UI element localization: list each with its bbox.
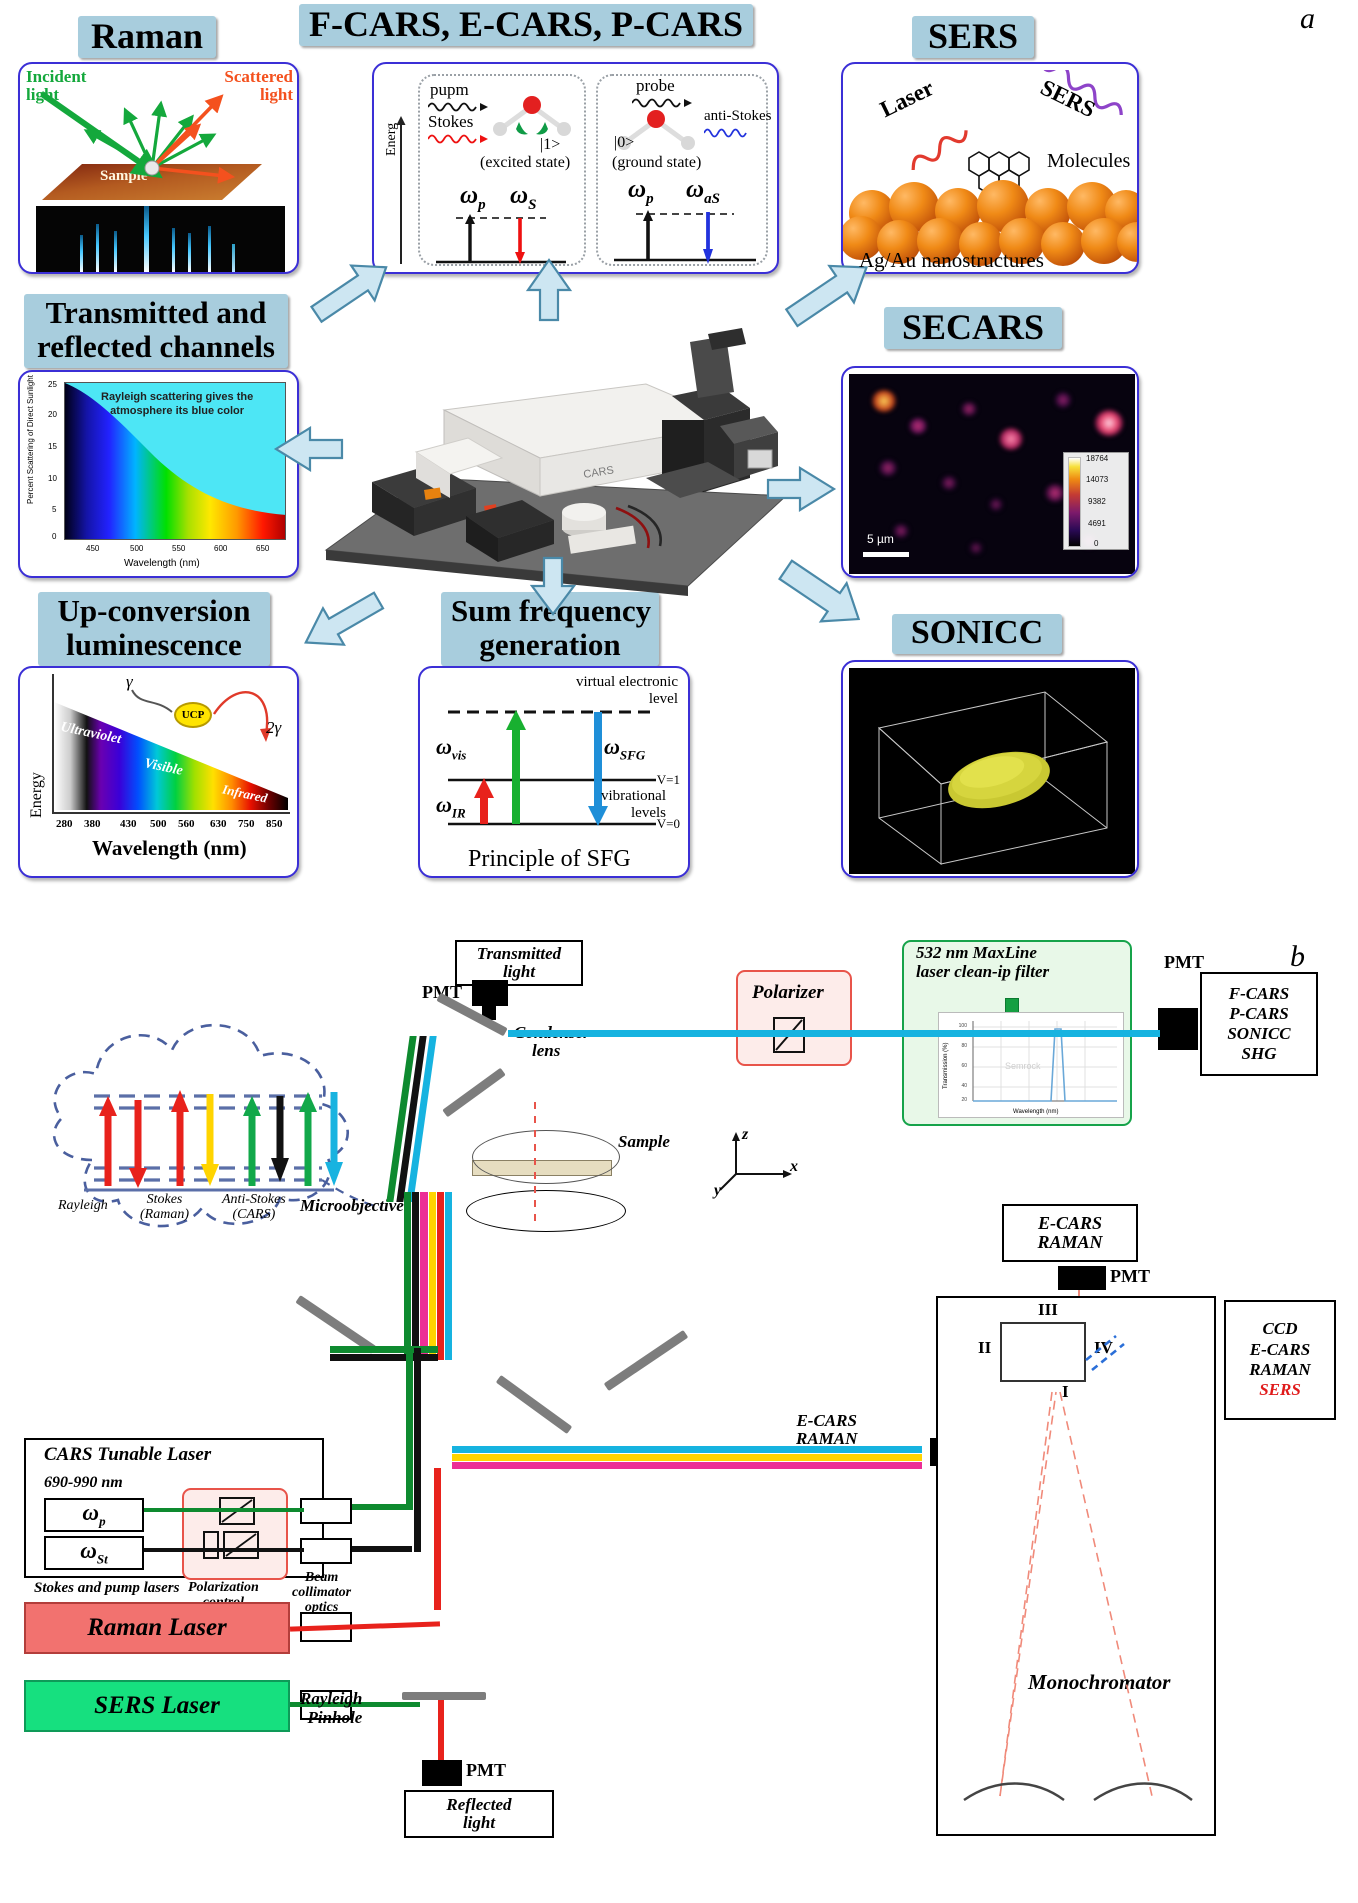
rayleigh-xtick-600: 600 (214, 544, 227, 553)
title-upconversion-line1: Up-conversion (48, 594, 260, 628)
microobjective-lens (466, 1190, 626, 1232)
secars-cbar-tick-2: 9382 (1088, 497, 1106, 506)
panel-b-label: b (1290, 940, 1305, 974)
detect-f-cars: F-CARS (1229, 984, 1289, 1004)
cloud-energy-diagram (22, 1000, 382, 1320)
sfg-vibrational-levels-label: vibrational levels (601, 788, 666, 821)
cars-laser-title: CARS Tunable Laser (44, 1444, 211, 1466)
ccd-line-raman: RAMAN (1249, 1360, 1310, 1380)
pmt-reflected-label: PMT (466, 1760, 506, 1781)
cars-stokes-label: Stokes (428, 112, 473, 132)
ecars-raman-detector-box: E-CARS RAMAN (1002, 1204, 1138, 1262)
mirror-condenser (442, 1068, 506, 1118)
stokes-wave-icon (428, 132, 488, 144)
stokes-pump-lasers-label: Stokes and pump lasers (34, 1580, 179, 1597)
arrow-to-transmitted (272, 420, 346, 478)
secars-cbar-tick-3: 14073 (1086, 475, 1108, 484)
cars-pump-label: pupm (430, 80, 469, 100)
title-sonicc: SONICC (892, 614, 1062, 654)
sers-laser-box: SERS Laser (24, 1680, 290, 1732)
title-transmitted-line1: Transmitted and (34, 296, 278, 330)
pmt-right-label: PMT (1164, 952, 1204, 973)
svg-text:60: 60 (961, 1063, 967, 1069)
panel-secars: 5 µm 18764 14073 9382 4691 0 (841, 366, 1139, 578)
sfg-level-diagram (430, 706, 682, 842)
beam-green-down (404, 1192, 411, 1360)
sfg-omega-sfg: ωSFG (604, 734, 645, 763)
rayleigh-xtick-500: 500 (130, 544, 143, 553)
polarizer-label: Polarizer (752, 982, 824, 1004)
beam-cyan-top (508, 1030, 1160, 1037)
title-raman: Raman (78, 16, 216, 58)
upconv-xtick-380: 380 (84, 818, 101, 830)
ecars-raman-beam-label: E-CARS RAMAN (796, 1412, 857, 1448)
reflected-light-box: Reflected light (404, 1790, 554, 1838)
cloud-label-stokes: Stokes(Raman) (140, 1192, 189, 1222)
sonicc-3d-box (849, 668, 1135, 874)
mirror-ecars-pickoff (496, 1375, 572, 1434)
sfg-virtual-level-label: virtual electronic level (576, 674, 678, 707)
arrow-to-upconversion (288, 586, 398, 656)
arrow-to-sonicc (764, 556, 882, 634)
omega-p-box: ωp (44, 1498, 144, 1532)
title-upconversion-line2: luminescence (48, 628, 260, 662)
filter-chart-xlabel: Wavelength (nm) (1013, 1109, 1058, 1115)
molecule-excited-icon (486, 92, 578, 144)
condenser-lens-ellipse (472, 1130, 620, 1184)
sample-label: Sample (618, 1132, 670, 1152)
sfg-v1-label: V=1 (657, 772, 680, 788)
beam-cyan-down (445, 1192, 452, 1360)
rayleigh-ytick-10: 10 (48, 474, 57, 483)
anti-stokes-wave-icon (704, 126, 760, 138)
secars-colorbar-box: 18764 14073 9382 4691 0 (1063, 452, 1129, 550)
sers-substrate-label: Ag/Au nanostructures (859, 248, 1044, 273)
panel-upconversion: Energy (18, 666, 299, 878)
arrow-to-cars (516, 258, 582, 320)
upconversion-gamma-out-label: 2γ (266, 718, 281, 738)
mirror-lower-right (604, 1330, 689, 1391)
beam-black-laser-link (144, 1548, 304, 1552)
instrument-photo: CARS (316, 300, 816, 600)
omega-st-box: ωSt (44, 1536, 144, 1570)
secars-heatmap-image: 5 µm 18764 14073 9382 4691 0 (849, 374, 1135, 574)
sfg-caption: Principle of SFG (468, 846, 631, 873)
secars-cbar-tick-1: 4691 (1088, 519, 1106, 528)
beam-collimator-label: Beam collimator optics (292, 1570, 351, 1615)
beam-red-riser (434, 1468, 441, 1610)
beam-yellow-right (452, 1454, 922, 1461)
upconversion-ylabel: Energy (28, 772, 46, 818)
axis-x-label: x (790, 1158, 798, 1176)
cloud-label-rayleigh: Rayleigh (58, 1198, 108, 1214)
axis-z-label: z (742, 1126, 748, 1144)
polarization-optics-icon (198, 1496, 274, 1566)
svg-text:40: 40 (961, 1083, 967, 1089)
beam-green-left (330, 1346, 438, 1353)
panel-sfg: virtual electronic level ωvis ωSFG ωIR V… (418, 666, 690, 878)
cars-state-name-right: (ground state) (612, 154, 701, 172)
arrow-to-raman (288, 258, 408, 328)
optical-axis-dashed (534, 1102, 536, 1224)
upconversion-gamma-in-label: γ (126, 672, 133, 692)
svg-text:80: 80 (961, 1043, 967, 1049)
svg-text:100: 100 (959, 1023, 968, 1029)
secars-scalebar-label: 5 µm (867, 532, 894, 546)
arrow-to-secars (764, 460, 838, 518)
right-detection-list: F-CARS P-CARS SONICC SHG (1200, 972, 1318, 1076)
raman-laser-box: Raman Laser (24, 1602, 290, 1654)
upconv-xtick-500: 500 (150, 818, 167, 830)
panel-a-label: a (1300, 2, 1315, 36)
title-transmitted-reflected: Transmitted and reflected channels (24, 294, 288, 368)
panel-cars-diagram: Energ pupm Stokes |1> (excited state) ωp (372, 62, 779, 274)
rayleigh-ylabel: Percent Scattering of Direct Sunlight (26, 375, 35, 504)
pump-wave-icon (428, 100, 488, 112)
title-cars: F-CARS, E-CARS, P-CARS (299, 4, 753, 46)
instrument-photo-svg: CARS (316, 300, 816, 600)
rayleigh-xtick-550: 550 (172, 544, 185, 553)
monochromator-raypaths (936, 1296, 1216, 1836)
title-upconversion: Up-conversion luminescence (38, 592, 270, 666)
upconv-xtick-630: 630 (210, 818, 227, 830)
rayleigh-xtick-650: 650 (256, 544, 269, 553)
monochromator-pmt-link (1078, 1290, 1080, 1302)
beam-black-riser (414, 1348, 421, 1552)
detect-sonicc: SONICC (1227, 1024, 1290, 1044)
rayleigh-ytick-25: 25 (48, 380, 57, 389)
collimator-optic-1 (300, 1498, 352, 1524)
beam-magenta-down (420, 1192, 428, 1360)
sfg-omega-ir: ωIR (436, 792, 466, 821)
sers-molecules-label: Molecules (1047, 150, 1130, 173)
sonicc-crystal-image (849, 668, 1135, 874)
beam-red-down (437, 1192, 444, 1360)
svg-text:20: 20 (961, 1097, 967, 1103)
title-sfg-line2: generation (451, 628, 649, 662)
filter-transmission-chart: Semrock 100 80 60 40 20 Transmission (%)… (938, 1012, 1124, 1118)
secars-cbar-tick-0: 0 (1094, 539, 1098, 548)
detect-p-cars: P-CARS (1229, 1004, 1289, 1024)
rayleigh-xtick-450: 450 (86, 544, 99, 553)
cars-probe-label: probe (636, 76, 675, 96)
panel-sers: Laser SERS Molecules (841, 62, 1139, 274)
cars-state-ket-right: |0> (614, 134, 634, 152)
upconv-xtick-280: 280 (56, 818, 73, 830)
cloud-label-antistokes: Anti-Stokes(CARS) (222, 1192, 286, 1222)
detect-shg: SHG (1242, 1044, 1277, 1064)
rayleigh-pinhole-label: Rayleigh Pinhole (300, 1690, 362, 1727)
rayleigh-ytick-0: 0 (52, 532, 56, 541)
collimator-optic-2 (300, 1538, 352, 1564)
rayleigh-pinhole-mirror (402, 1692, 486, 1700)
upconv-xtick-750: 750 (238, 818, 255, 830)
beam-magenta-right (452, 1462, 922, 1469)
secars-colorbar (1068, 457, 1081, 547)
cars-energy-ylabel: Energ (384, 123, 400, 156)
filter-label: 532 nm MaxLine laser clean-ip filter (916, 944, 1049, 981)
rayleigh-xlabel: Wavelength (nm) (124, 558, 200, 569)
beam-black-left (330, 1354, 438, 1361)
beam-green-laser-link (144, 1508, 304, 1512)
raman-scatter-arrows (20, 64, 299, 209)
panel-raman: Incidentlight Scatteredlight Sample (18, 62, 299, 274)
filter-chart-ylabel: Transmission (%) (943, 1043, 949, 1089)
ccd-title: CCD (1263, 1319, 1298, 1339)
rayleigh-annotation: Rayleigh scattering gives the atmosphere… (101, 391, 253, 419)
upconv-xtick-430: 430 (120, 818, 137, 830)
title-secars: SECARS (884, 307, 1062, 349)
pmt-reflected-detector (422, 1760, 462, 1786)
svg-text:Semrock: Semrock (1005, 1061, 1041, 1071)
ccd-line-sers: SERS (1259, 1380, 1301, 1400)
cars-state-name-left: (excited state) (480, 154, 570, 172)
pmt-transmitted-detector (472, 980, 508, 1006)
rayleigh-ytick-15: 15 (48, 442, 57, 451)
beam-red-to-pmt (438, 1700, 444, 1762)
cars-antistokes-label: anti-Stokes (704, 108, 772, 125)
upconv-xtick-560: 560 (178, 818, 195, 830)
beam-green-riser (406, 1348, 413, 1510)
upconversion-x-axis (52, 812, 290, 814)
cars-transitions-right (606, 204, 766, 268)
panel-sonicc (841, 660, 1139, 878)
pmt-ecars-detector (1058, 1266, 1106, 1290)
secars-cbar-tick-max: 18764 (1086, 454, 1108, 463)
rayleigh-plot-area: Rayleigh scattering gives the atmosphere… (64, 382, 286, 540)
ccd-line-ecars: E-CARS (1250, 1340, 1310, 1360)
title-sers: SERS (912, 16, 1034, 58)
arrow-to-sfg (522, 556, 584, 618)
ccd-box: CCD E-CARS RAMAN SERS (1224, 1300, 1336, 1420)
panel-rayleigh-chart: Percent Scattering of Direct Sunlight 25… (18, 370, 299, 578)
beam-black-down (412, 1192, 419, 1360)
beam-green-to-mirror (352, 1504, 412, 1510)
sfg-omega-vis: ωvis (436, 734, 466, 763)
raman-spectrum-image (36, 206, 285, 274)
beam-yellow-down (429, 1192, 436, 1360)
cars-state-ket-left: |1> (540, 136, 560, 154)
upconversion-xlabel: Wavelength (nm) (92, 836, 247, 861)
pmt-right-detector (1158, 1008, 1198, 1050)
rayleigh-ytick-5: 5 (52, 505, 56, 514)
beam-black-to-mirror (352, 1546, 412, 1552)
rayleigh-ytick-20: 20 (48, 410, 57, 419)
axis-y-label: y (714, 1182, 721, 1200)
cars-laser-range: 690-990 nm (44, 1474, 123, 1492)
title-transmitted-line2: reflected channels (34, 330, 278, 364)
upconv-xtick-850: 850 (266, 818, 283, 830)
pmt-ecars-label: PMT (1110, 1266, 1150, 1287)
